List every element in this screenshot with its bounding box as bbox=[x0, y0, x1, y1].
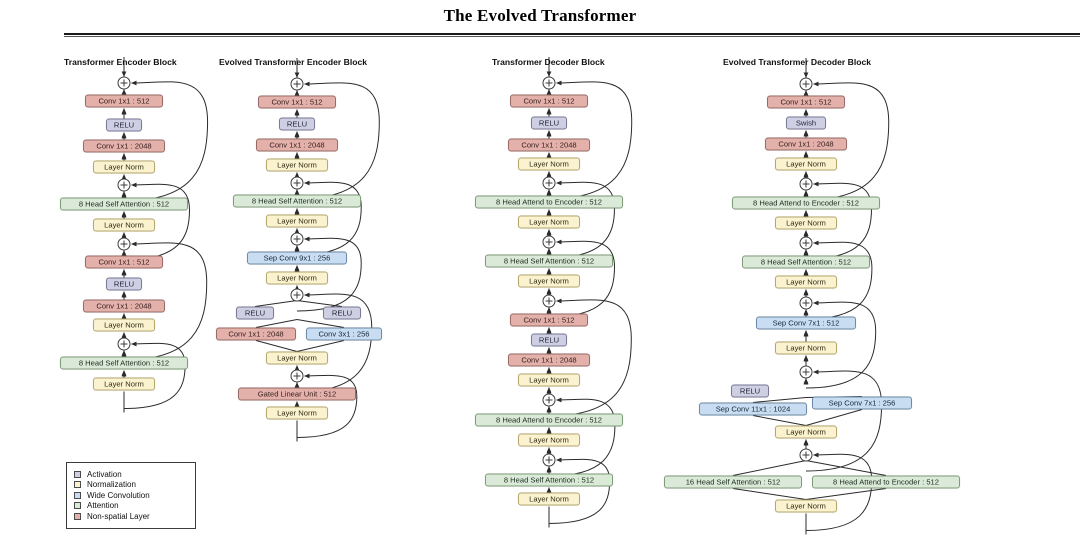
connector-edge bbox=[256, 320, 297, 328]
node-conv-1x1-512: Conv 1x1 : 512 bbox=[510, 95, 588, 108]
residual-add-icon bbox=[800, 237, 813, 250]
column-title-transformer-decoder: Transformer Decoder Block bbox=[492, 57, 605, 67]
node-sep-conv-11x1-1024: Sep Conv 11x1 : 1024 bbox=[699, 403, 807, 416]
legend-label: Attention bbox=[87, 501, 119, 510]
connector-edge bbox=[806, 371, 882, 471]
node-conv-1x1-2048: Conv 1x1 : 2048 bbox=[508, 139, 590, 152]
legend-label: Non-spatial Layer bbox=[87, 512, 150, 521]
node-layer-norm: Layer Norm bbox=[518, 374, 580, 387]
residual-add-icon bbox=[543, 394, 556, 407]
residual-add-icon bbox=[800, 449, 813, 462]
legend: ActivationNormalizationWide ConvolutionA… bbox=[66, 462, 196, 529]
node-relu: RELU bbox=[531, 117, 567, 130]
node-conv-1x1-512: Conv 1x1 : 512 bbox=[258, 96, 336, 109]
connector-edge bbox=[733, 489, 806, 500]
residual-add-icon bbox=[118, 238, 131, 251]
residual-add-icon bbox=[291, 177, 304, 190]
legend-swatch-icon bbox=[74, 481, 81, 488]
node-8-head-attend-to-encoder-512: 8 Head Attend to Encoder : 512 bbox=[475, 414, 623, 427]
residual-add-icon bbox=[291, 233, 304, 246]
legend-label: Activation bbox=[87, 470, 122, 479]
legend-item: Wide Convolution bbox=[74, 491, 188, 500]
node-8-head-self-attention-512: 8 Head Self Attention : 512 bbox=[485, 255, 613, 268]
node-relu: RELU bbox=[279, 118, 315, 131]
legend-item: Attention bbox=[74, 501, 188, 510]
node-sep-conv-9x1-256: Sep Conv 9x1 : 256 bbox=[247, 252, 347, 265]
node-conv-3x1-256: Conv 3x1 : 256 bbox=[306, 328, 382, 341]
node-layer-norm: Layer Norm bbox=[93, 319, 155, 332]
column-title-evolved-transformer-encoder: Evolved Transformer Encoder Block bbox=[219, 57, 367, 67]
residual-add-icon bbox=[291, 370, 304, 383]
node-8-head-attend-to-encoder-512: 8 Head Attend to Encoder : 512 bbox=[732, 197, 880, 210]
node-layer-norm: Layer Norm bbox=[266, 352, 328, 365]
node-layer-norm: Layer Norm bbox=[775, 217, 837, 230]
node-layer-norm: Layer Norm bbox=[93, 161, 155, 174]
node-conv-1x1-2048: Conv 1x1 : 2048 bbox=[216, 328, 296, 341]
node-relu: RELU bbox=[236, 307, 274, 320]
connector-edge bbox=[806, 461, 886, 476]
node-sep-conv-7x1-256: Sep Conv 7x1 : 256 bbox=[812, 397, 912, 410]
connector-edge bbox=[549, 459, 610, 523]
legend-label: Wide Convolution bbox=[87, 491, 150, 500]
node-8-head-self-attention-512: 8 Head Self Attention : 512 bbox=[60, 198, 188, 211]
connector-edge bbox=[806, 410, 862, 426]
node-conv-1x1-512: Conv 1x1 : 512 bbox=[510, 314, 588, 327]
residual-add-icon bbox=[543, 236, 556, 249]
node-relu: RELU bbox=[731, 385, 769, 398]
connector-edge bbox=[124, 343, 185, 408]
connector-edge bbox=[297, 320, 344, 328]
legend-swatch-icon bbox=[74, 502, 81, 509]
node-relu: RELU bbox=[531, 334, 567, 347]
node-relu: RELU bbox=[106, 278, 142, 291]
node-layer-norm: Layer Norm bbox=[775, 158, 837, 171]
residual-add-icon bbox=[291, 289, 304, 302]
node-layer-norm: Layer Norm bbox=[518, 158, 580, 171]
node-layer-norm: Layer Norm bbox=[518, 275, 580, 288]
connector-edge bbox=[297, 341, 344, 352]
legend-item: Non-spatial Layer bbox=[74, 512, 188, 521]
legend-label: Normalization bbox=[87, 480, 136, 489]
residual-add-icon bbox=[118, 179, 131, 192]
connector-edge bbox=[753, 416, 806, 426]
node-layer-norm: Layer Norm bbox=[266, 272, 328, 285]
legend-swatch-icon bbox=[74, 492, 81, 499]
column-title-evolved-transformer-decoder: Evolved Transformer Decoder Block bbox=[723, 57, 871, 67]
node-conv-1x1-512: Conv 1x1 : 512 bbox=[767, 96, 845, 109]
node-layer-norm: Layer Norm bbox=[775, 500, 837, 513]
residual-add-icon bbox=[800, 78, 813, 91]
residual-add-icon bbox=[800, 178, 813, 191]
residual-add-icon bbox=[543, 454, 556, 467]
residual-add-icon bbox=[543, 77, 556, 90]
node-gated-linear-unit-512: Gated Linear Unit : 512 bbox=[238, 388, 356, 401]
residual-add-icon bbox=[800, 297, 813, 310]
node-8-head-attend-to-encoder-512: 8 Head Attend to Encoder : 512 bbox=[812, 476, 960, 489]
legend-item: Normalization bbox=[74, 480, 188, 489]
node-layer-norm: Layer Norm bbox=[266, 215, 328, 228]
node-layer-norm: Layer Norm bbox=[518, 493, 580, 506]
node-8-head-self-attention-512: 8 Head Self Attention : 512 bbox=[60, 357, 188, 370]
node-layer-norm: Layer Norm bbox=[518, 216, 580, 229]
node-layer-norm: Layer Norm bbox=[93, 219, 155, 232]
residual-add-icon bbox=[118, 77, 131, 90]
node-conv-1x1-2048: Conv 1x1 : 2048 bbox=[508, 354, 590, 367]
node-layer-norm: Layer Norm bbox=[775, 426, 837, 439]
node-8-head-self-attention-512: 8 Head Self Attention : 512 bbox=[233, 195, 361, 208]
node-conv-1x1-2048: Conv 1x1 : 2048 bbox=[83, 300, 165, 313]
connector-edge bbox=[806, 489, 886, 500]
column-title-transformer-encoder: Transformer Encoder Block bbox=[64, 57, 177, 67]
node-sep-conv-7x1-512: Sep Conv 7x1 : 512 bbox=[756, 317, 856, 330]
node-layer-norm: Layer Norm bbox=[266, 159, 328, 172]
residual-add-icon bbox=[291, 78, 304, 91]
legend-item: Activation bbox=[74, 470, 188, 479]
residual-add-icon bbox=[543, 295, 556, 308]
node-conv-1x1-512: Conv 1x1 : 512 bbox=[85, 95, 163, 108]
node-8-head-self-attention-512: 8 Head Self Attention : 512 bbox=[742, 256, 870, 269]
legend-rows: ActivationNormalizationWide ConvolutionA… bbox=[74, 470, 188, 521]
legend-swatch-icon bbox=[74, 513, 81, 520]
residual-add-icon bbox=[543, 177, 556, 190]
node-conv-1x1-2048: Conv 1x1 : 2048 bbox=[765, 138, 847, 151]
node-conv-1x1-512: Conv 1x1 : 512 bbox=[85, 256, 163, 269]
node-layer-norm: Layer Norm bbox=[775, 276, 837, 289]
connector-edge bbox=[806, 454, 872, 530]
node-layer-norm: Layer Norm bbox=[93, 378, 155, 391]
node-16-head-self-attention-512: 16 Head Self Attention : 512 bbox=[664, 476, 802, 489]
node-layer-norm: Layer Norm bbox=[518, 434, 580, 447]
node-8-head-attend-to-encoder-512: 8 Head Attend to Encoder : 512 bbox=[475, 196, 623, 209]
node-relu: RELU bbox=[106, 119, 142, 132]
legend-swatch-icon bbox=[74, 471, 81, 478]
node-conv-1x1-2048: Conv 1x1 : 2048 bbox=[83, 140, 165, 153]
residual-add-icon bbox=[800, 366, 813, 379]
residual-add-icon bbox=[118, 338, 131, 351]
connector-edge bbox=[256, 341, 297, 352]
node-layer-norm: Layer Norm bbox=[775, 342, 837, 355]
node-8-head-self-attention-512: 8 Head Self Attention : 512 bbox=[485, 474, 613, 487]
node-swish: Swish bbox=[786, 117, 826, 130]
node-conv-1x1-2048: Conv 1x1 : 2048 bbox=[256, 139, 338, 152]
node-relu: RELU bbox=[323, 307, 361, 320]
connector-edge bbox=[733, 461, 806, 476]
node-layer-norm: Layer Norm bbox=[266, 407, 328, 420]
